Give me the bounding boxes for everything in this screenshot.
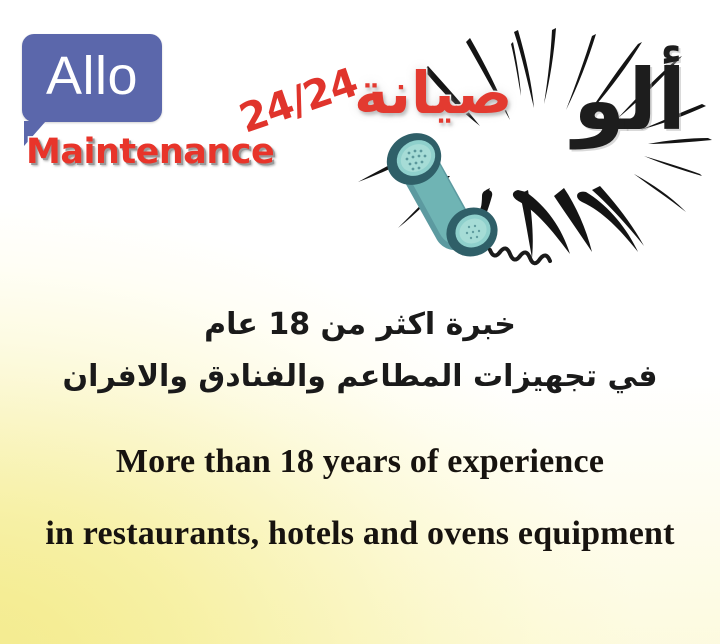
allo-brand-label: Allo — [22, 34, 162, 122]
arabic-brand-label: ألو — [573, 58, 686, 142]
logo-header: Allo Maintenance 24/24 — [0, 0, 720, 288]
arabic-logo-cluster: ألو صيانة — [350, 0, 720, 288]
maintenance-label: Maintenance — [26, 132, 274, 172]
arabic-headline-2: في تجهيزات المطاعم والفنادق والافران — [0, 350, 720, 404]
advertisement-poster: Allo Maintenance 24/24 — [0, 0, 720, 644]
telephone-handset-icon — [368, 126, 558, 276]
english-headline-2: in restaurants, hotels and ovens equipme… — [0, 498, 720, 570]
availability-badge: 24/24 — [234, 60, 363, 143]
allo-speech-bubble: Allo — [22, 34, 162, 122]
english-headline-1: More than 18 years of experience — [0, 426, 720, 498]
arabic-headline-1: خبرة اكثر من 18 عام — [0, 300, 720, 350]
message-block: خبرة اكثر من 18 عام في تجهيزات المطاعم و… — [0, 300, 720, 570]
arabic-service-label: صيانة — [354, 64, 512, 122]
